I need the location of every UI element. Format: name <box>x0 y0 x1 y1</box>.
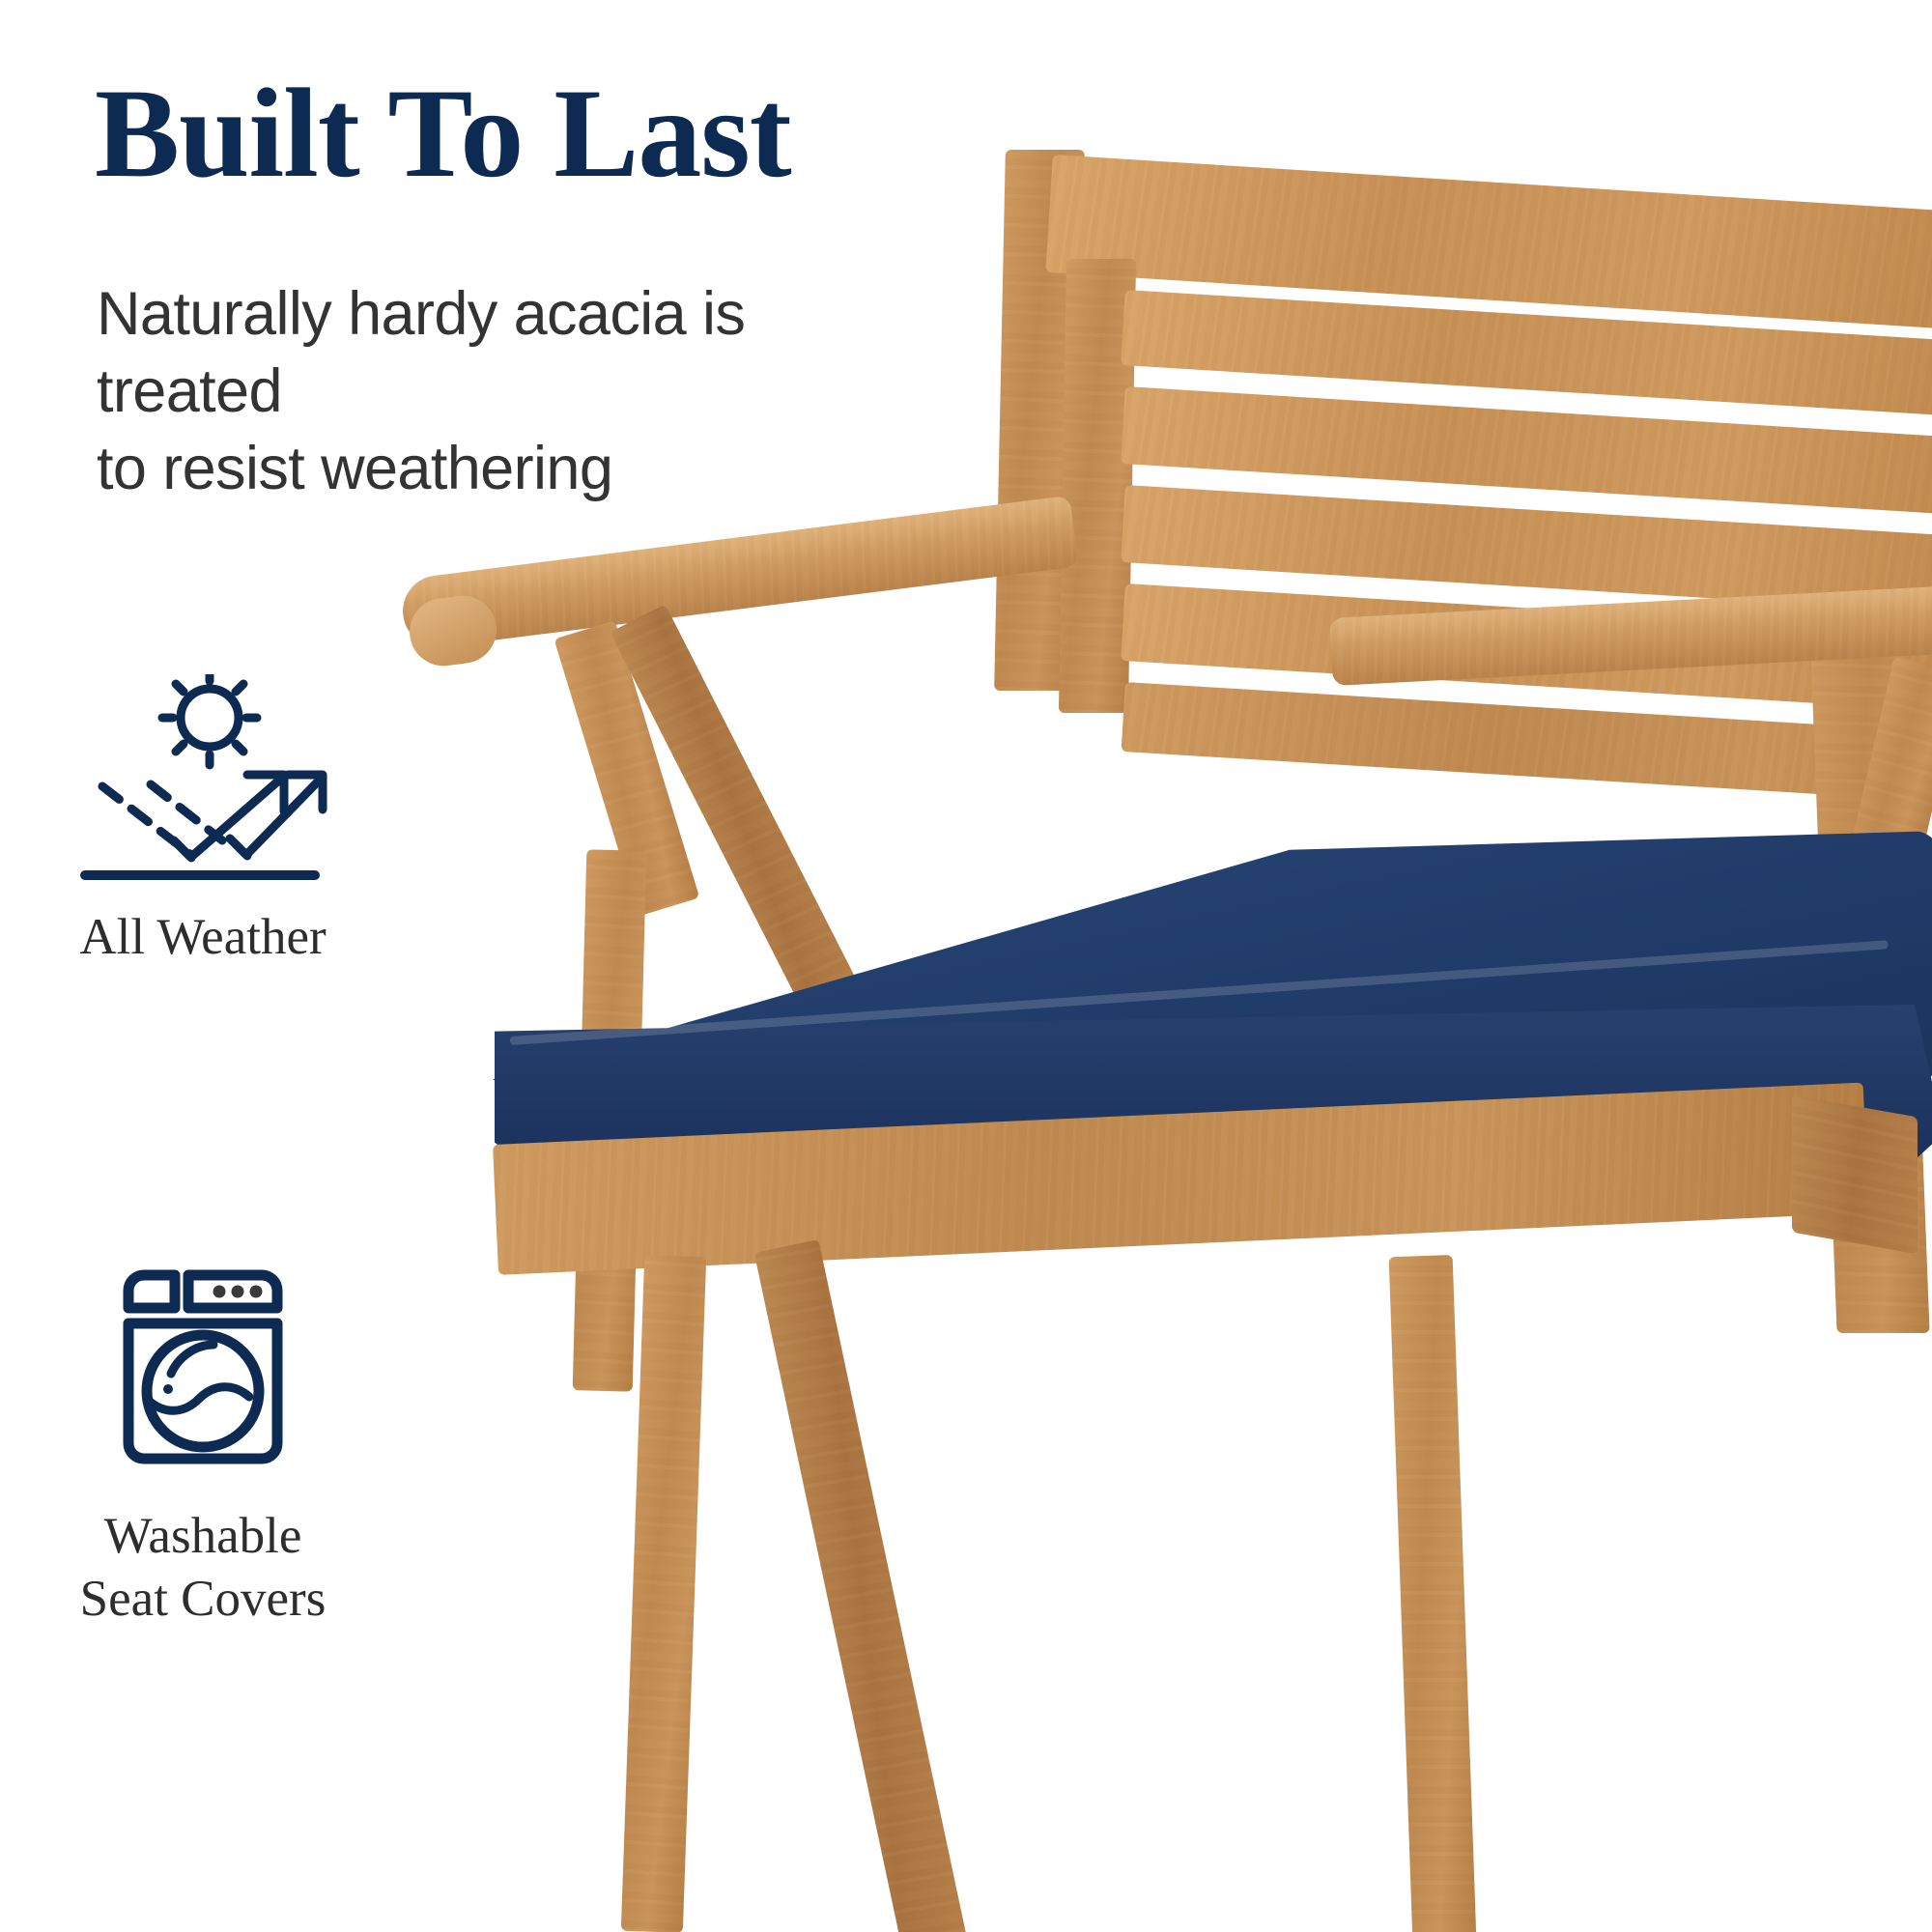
washing-machine-icon <box>111 1254 295 1481</box>
product-feature-banner: Built To Last Naturally hardy acacia is … <box>0 0 1932 1932</box>
chair-left-armrest <box>399 496 1079 651</box>
sun-rays-deflect-icon <box>77 674 328 882</box>
page-title: Built To Last <box>95 70 791 197</box>
feature-label: All Weather <box>58 906 348 969</box>
feature-icon-wrapper <box>58 667 348 889</box>
feature-all-weather: All Weather <box>58 667 348 969</box>
chair-seat-apron-right-face <box>1792 1095 1918 1255</box>
feature-label-line-1: Washable <box>58 1505 348 1568</box>
chair-rear-left-leg <box>754 1239 972 1932</box>
chair-front-left-leg-lower <box>621 1255 706 1932</box>
feature-washable-seat-covers: Washable Seat Covers <box>58 1246 348 1630</box>
subtitle: Naturally hardy acacia is treated to res… <box>97 275 927 507</box>
chair-front-right-leg <box>1389 1255 1477 1932</box>
subtitle-line-2: to resist weathering <box>97 430 927 507</box>
feature-label-line-1: All Weather <box>58 906 348 969</box>
feature-label: Washable Seat Covers <box>58 1505 348 1630</box>
feature-icon-wrapper <box>58 1246 348 1488</box>
feature-label-line-2: Seat Covers <box>58 1568 348 1631</box>
subtitle-line-1: Naturally hardy acacia is treated <box>97 275 927 430</box>
